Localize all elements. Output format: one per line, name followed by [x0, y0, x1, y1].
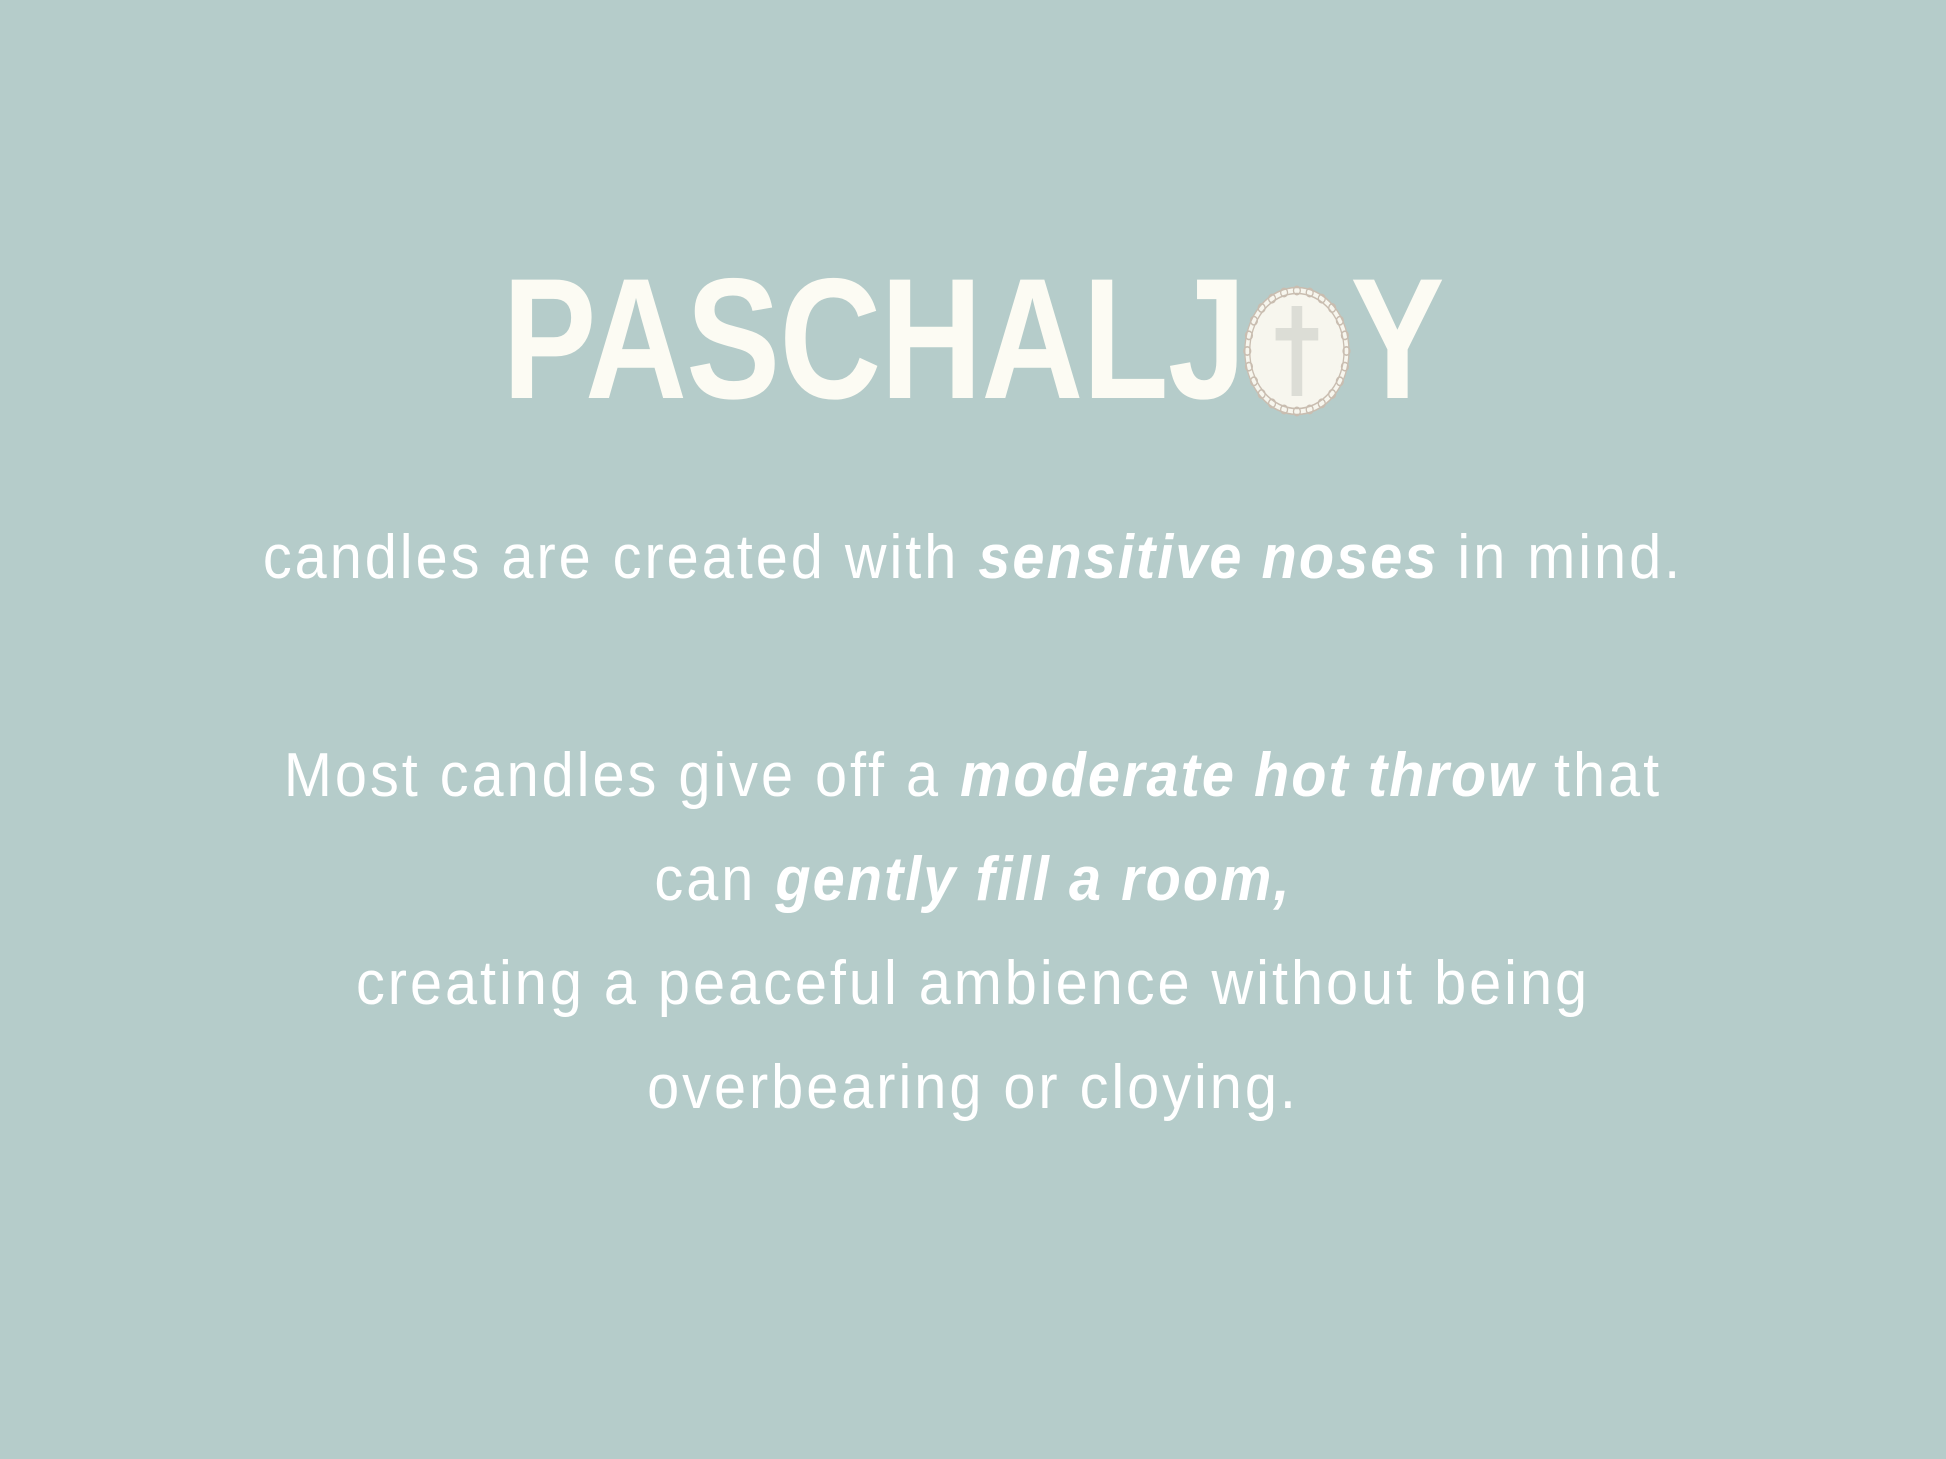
brand-logo: PASCHALJ	[0, 244, 1946, 434]
paragraph-two-line-4: overbearing or cloying.	[68, 1036, 1878, 1140]
paragraph-two-line-2: can gently fill a room,	[68, 828, 1878, 932]
brand-wordmark-suffix: Y	[1350, 253, 1443, 425]
promo-slide: PASCHALJ	[0, 0, 1946, 1459]
p1-l1-emphasis-1: sensitive noses	[978, 523, 1438, 592]
p2-l3-segment-1: creating a peaceful ambience without bei…	[356, 949, 1590, 1018]
p1-l1-segment-2: in mind.	[1438, 523, 1683, 592]
paragraph-two-line-3: creating a peaceful ambience without bei…	[68, 932, 1878, 1036]
communion-host-cross-medallion-icon	[1237, 278, 1357, 424]
p1-l1-segment-1: candles are created with	[263, 523, 978, 592]
paragraph-two-line-1: Most candles give off a moderate hot thr…	[68, 724, 1878, 828]
p2-l2-emphasis-1: gently fill a room,	[775, 845, 1291, 914]
paragraph-one-line-1: candles are created with sensitive noses…	[68, 506, 1878, 610]
p2-l4-segment-1: overbearing or cloying.	[647, 1053, 1299, 1122]
p2-l2-segment-1: can	[654, 845, 775, 914]
brand-wordmark: PASCHALJ	[502, 253, 1443, 425]
p2-l1-emphasis-1: moderate hot throw	[960, 741, 1535, 810]
p2-l1-segment-1: Most candles give off a	[284, 741, 960, 810]
brand-wordmark-prefix: PASCHALJ	[502, 253, 1245, 425]
p2-l1-segment-2: that	[1535, 741, 1662, 810]
paragraph-spacer	[0, 610, 1946, 724]
body-copy: candles are created with sensitive noses…	[0, 506, 1946, 1140]
